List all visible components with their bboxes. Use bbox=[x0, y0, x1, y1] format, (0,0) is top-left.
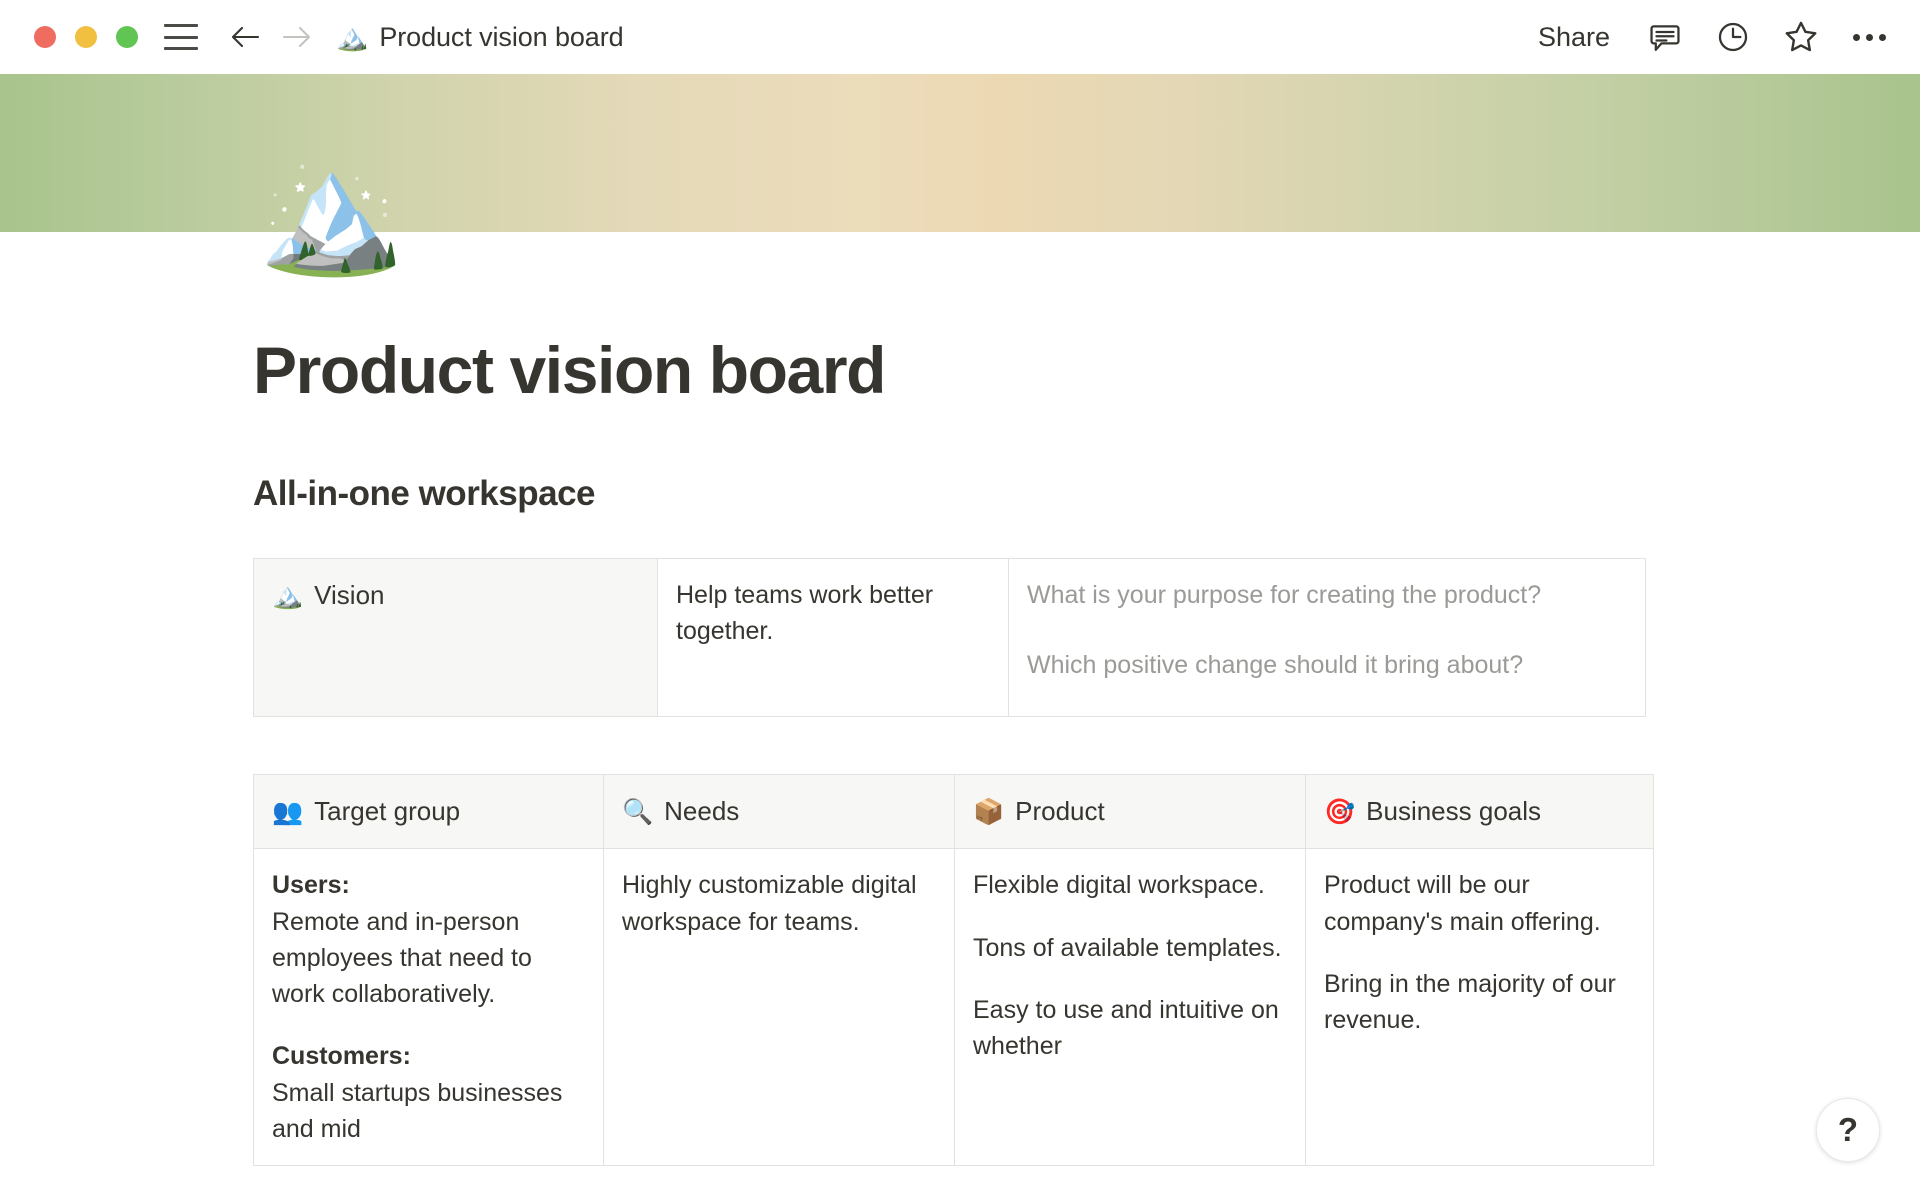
column-header-label: Target group bbox=[314, 796, 460, 826]
product-text-1: Flexible digital workspace. bbox=[973, 867, 1283, 903]
column-header-target-group[interactable]: 👥Target group bbox=[254, 774, 604, 849]
dot bbox=[1866, 34, 1873, 41]
page-icon-mountain[interactable]: 🏔️ bbox=[258, 154, 1880, 282]
people-icon: 👥 bbox=[272, 798, 303, 826]
search-icon: 🔍 bbox=[622, 798, 653, 826]
product-text-3: Easy to use and intuitive on whether bbox=[973, 992, 1283, 1065]
minimize-window-button[interactable] bbox=[75, 26, 97, 48]
cell-target-group[interactable]: Users:Remote and in-person employees tha… bbox=[254, 849, 604, 1166]
mountain-icon: 🏔️ bbox=[336, 24, 368, 50]
mountain-icon: 🏔️ bbox=[272, 582, 303, 610]
cell-needs[interactable]: Highly customizable digital workspace fo… bbox=[604, 849, 955, 1166]
navigation-arrows bbox=[228, 20, 314, 54]
hamburger-line bbox=[164, 36, 198, 39]
close-window-button[interactable] bbox=[34, 26, 56, 48]
dot bbox=[1879, 34, 1886, 41]
business-goals-text-2: Bring in the majority of our revenue. bbox=[1324, 966, 1631, 1039]
back-arrow-icon[interactable] bbox=[228, 20, 262, 54]
product-text-2: Tons of available templates. bbox=[973, 930, 1283, 966]
history-clock-icon[interactable] bbox=[1710, 14, 1756, 60]
vision-table: 🏔️Vision Help teams work better together… bbox=[253, 558, 1646, 717]
table-row: Users:Remote and in-person employees tha… bbox=[254, 849, 1654, 1166]
window-titlebar: 🏔️ Product vision board Share bbox=[0, 0, 1920, 74]
column-header-business-goals[interactable]: 🎯Business goals bbox=[1306, 774, 1654, 849]
column-header-product[interactable]: 📦Product bbox=[955, 774, 1306, 849]
breadcrumb[interactable]: 🏔️ Product vision board bbox=[336, 22, 624, 53]
page-title[interactable]: Product vision board bbox=[253, 334, 1880, 407]
breadcrumb-page-title: Product vision board bbox=[379, 22, 623, 53]
page-content: 🏔️ Product vision board All-in-one works… bbox=[0, 154, 1920, 1166]
more-options-icon[interactable] bbox=[1846, 14, 1892, 60]
users-text: Remote and in-person employees that need… bbox=[272, 908, 532, 1009]
vision-label-cell[interactable]: 🏔️Vision bbox=[254, 558, 658, 716]
comment-icon[interactable] bbox=[1642, 14, 1688, 60]
forward-arrow-icon[interactable] bbox=[280, 20, 314, 54]
column-header-label: Needs bbox=[664, 796, 739, 826]
users-label: Users: bbox=[272, 867, 581, 903]
business-goals-text-1: Product will be our company's main offer… bbox=[1324, 867, 1631, 940]
maximize-window-button[interactable] bbox=[116, 26, 138, 48]
column-header-label: Business goals bbox=[1366, 796, 1541, 826]
table-row: 🏔️Vision Help teams work better together… bbox=[254, 558, 1646, 716]
vision-board-grid-table: 👥Target group 🔍Needs 📦Product 🎯Business … bbox=[253, 774, 1654, 1166]
sidebar-toggle-icon[interactable] bbox=[164, 24, 198, 50]
vision-placeholder-cell[interactable]: What is your purpose for creating the pr… bbox=[1009, 558, 1646, 716]
vision-placeholder-1: What is your purpose for creating the pr… bbox=[1027, 577, 1623, 613]
target-group-users: Users:Remote and in-person employees tha… bbox=[272, 867, 581, 1012]
column-header-needs[interactable]: 🔍Needs bbox=[604, 774, 955, 849]
section-heading[interactable]: All-in-one workspace bbox=[253, 474, 1880, 514]
dot bbox=[1853, 34, 1860, 41]
target-group-customers: Customers:Small startups businesses and … bbox=[272, 1038, 581, 1147]
target-icon: 🎯 bbox=[1324, 798, 1355, 826]
cell-business-goals[interactable]: Product will be our company's main offer… bbox=[1306, 849, 1654, 1166]
vision-placeholder-2: Which positive change should it bring ab… bbox=[1027, 647, 1623, 683]
vision-value-text: Help teams work better together. bbox=[676, 577, 986, 650]
customers-text: Small startups businesses and mid bbox=[272, 1079, 562, 1143]
vision-value-cell[interactable]: Help teams work better together. bbox=[658, 558, 1009, 716]
traffic-light-controls bbox=[34, 26, 138, 48]
hamburger-line bbox=[164, 47, 198, 50]
customers-label: Customers: bbox=[272, 1038, 581, 1074]
table-header-row: 👥Target group 🔍Needs 📦Product 🎯Business … bbox=[254, 774, 1654, 849]
app-window: 🏔️ Product vision board Share bbox=[0, 0, 1920, 1200]
hamburger-line bbox=[164, 24, 198, 27]
column-header-label: Product bbox=[1015, 796, 1105, 826]
share-button[interactable]: Share bbox=[1528, 18, 1620, 57]
cell-product[interactable]: Flexible digital workspace. Tons of avai… bbox=[955, 849, 1306, 1166]
needs-text-1: Highly customizable digital workspace fo… bbox=[622, 867, 932, 940]
package-icon: 📦 bbox=[973, 798, 1004, 826]
titlebar-actions: Share bbox=[1528, 14, 1892, 60]
vision-label: Vision bbox=[314, 580, 384, 610]
help-button[interactable]: ? bbox=[1816, 1098, 1880, 1162]
star-icon[interactable] bbox=[1778, 14, 1824, 60]
